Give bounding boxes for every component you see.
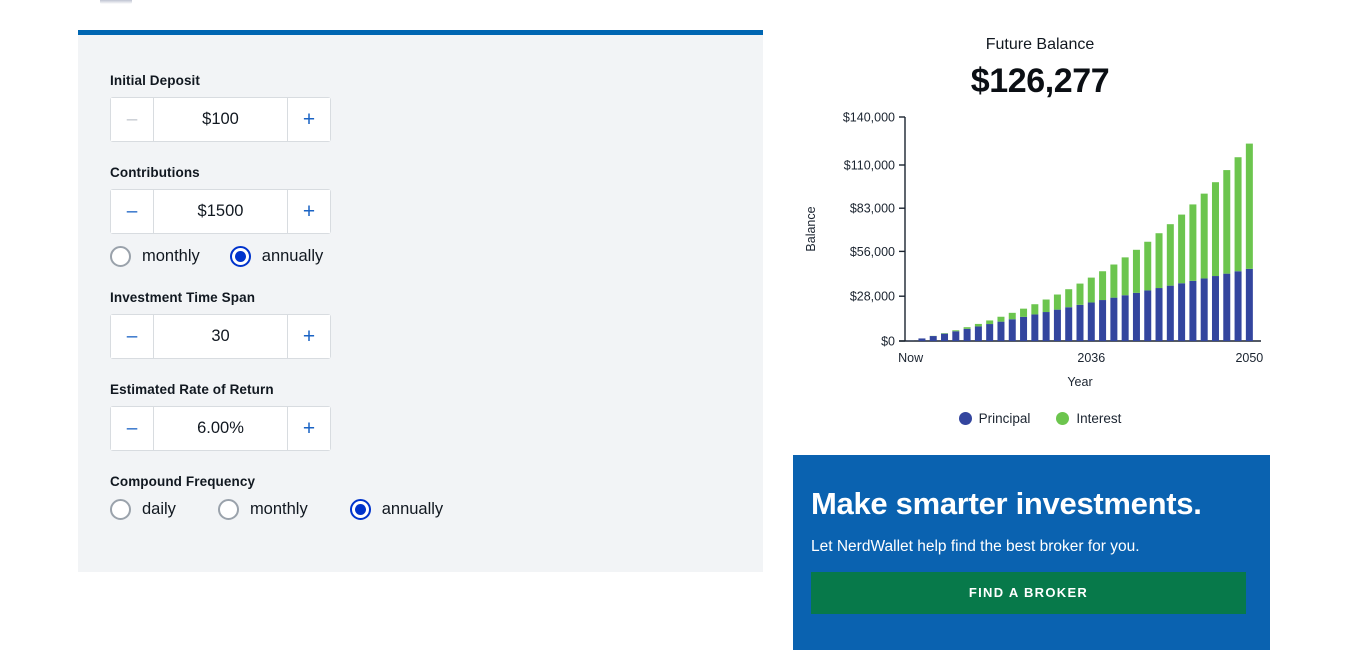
legend-label-interest: Interest: [1076, 411, 1121, 426]
plus-icon-investment-time-span[interactable]: +: [287, 315, 330, 358]
input-contributions[interactable]: $1500: [154, 190, 287, 233]
svg-text:$83,000: $83,000: [850, 202, 895, 216]
future-balance-amount: $126,277: [793, 62, 1287, 101]
results-column: Future Balance $126,277 $140,000$110,000…: [793, 0, 1283, 426]
radio-compound-monthly[interactable]: monthly: [218, 499, 308, 520]
plus-icon-contributions[interactable]: +: [287, 190, 330, 233]
legend-dot-principal: [959, 412, 972, 425]
input-estimated-rate-of-return[interactable]: 6.00%: [154, 407, 287, 450]
cta-banner: Make smarter investments. Let NerdWallet…: [793, 455, 1270, 650]
radio-label-compound-annually: annually: [382, 500, 443, 519]
radio-contribution-annually[interactable]: annually: [230, 246, 323, 267]
stepper-contributions: – $1500 +: [110, 189, 331, 234]
field-label-investment-time-span: Investment Time Span: [110, 290, 763, 305]
radio-compound-daily[interactable]: daily: [110, 499, 176, 520]
svg-text:$110,000: $110,000: [844, 159, 895, 173]
stepper-estimated-rate-of-return: – 6.00% +: [110, 406, 331, 451]
field-label-compound-frequency: Compound Frequency: [110, 474, 763, 489]
chart-legend: Principal Interest: [793, 411, 1287, 426]
stepper-investment-time-span: – 30 +: [110, 314, 331, 359]
radio-icon-monthly: [110, 246, 131, 267]
radio-icon-daily: [110, 499, 131, 520]
svg-text:$56,000: $56,000: [850, 245, 895, 259]
input-investment-time-span[interactable]: 30: [154, 315, 287, 358]
balance-chart: $140,000$110,000$83,000$56,000$28,000$0B…: [793, 109, 1283, 409]
stepper-initial-deposit: – $100 +: [110, 97, 331, 142]
svg-text:2036: 2036: [1077, 351, 1105, 365]
radio-label-compound-daily: daily: [142, 500, 176, 519]
svg-text:Year: Year: [1067, 375, 1092, 389]
calculator-fields: Initial Deposit – $100 + Contributions –…: [78, 35, 763, 520]
contribution-frequency-group: monthly annually: [110, 246, 763, 267]
page-root: Initial Deposit – $100 + Contributions –…: [0, 0, 1350, 650]
legend-label-principal: Principal: [979, 411, 1031, 426]
svg-text:Balance: Balance: [804, 206, 818, 251]
radio-label-compound-monthly: monthly: [250, 500, 308, 519]
field-label-estimated-rate-of-return: Estimated Rate of Return: [110, 382, 763, 397]
field-estimated-rate-of-return: Estimated Rate of Return – 6.00% +: [110, 382, 763, 451]
svg-text:Now: Now: [898, 351, 924, 365]
radio-icon-compound-monthly: [218, 499, 239, 520]
calculator-panel: Initial Deposit – $100 + Contributions –…: [78, 30, 763, 572]
plus-icon-initial-deposit[interactable]: +: [287, 98, 330, 141]
radio-contribution-monthly[interactable]: monthly: [110, 246, 200, 267]
minus-icon-contributions[interactable]: –: [111, 190, 154, 233]
radio-icon-annually: [230, 246, 251, 267]
radio-label-contribution-monthly: monthly: [142, 247, 200, 266]
field-label-initial-deposit: Initial Deposit: [110, 73, 763, 88]
legend-dot-interest: [1056, 412, 1069, 425]
cta-subtext: Let NerdWallet help find the best broker…: [811, 538, 1246, 556]
radio-label-contribution-annually: annually: [262, 247, 323, 266]
cut-off-element-top: [100, 0, 132, 4]
field-contributions: Contributions – $1500 + monthly annually: [110, 165, 763, 267]
find-a-broker-button[interactable]: FIND A BROKER: [811, 572, 1246, 614]
cta-headline: Make smarter investments.: [811, 483, 1246, 525]
radio-compound-annually[interactable]: annually: [350, 499, 443, 520]
field-initial-deposit: Initial Deposit – $100 +: [110, 73, 763, 142]
balance-chart-svg: $140,000$110,000$83,000$56,000$28,000$0B…: [793, 109, 1283, 409]
svg-text:$140,000: $140,000: [843, 111, 895, 125]
field-investment-time-span: Investment Time Span – 30 +: [110, 290, 763, 359]
chart-title: Future Balance: [793, 36, 1287, 54]
svg-text:$28,000: $28,000: [850, 290, 895, 304]
minus-icon-initial-deposit[interactable]: –: [111, 98, 154, 141]
input-initial-deposit[interactable]: $100: [154, 98, 287, 141]
legend-item-principal: Principal: [959, 411, 1031, 426]
svg-text:$0: $0: [881, 335, 895, 349]
minus-icon-investment-time-span[interactable]: –: [111, 315, 154, 358]
legend-item-interest: Interest: [1056, 411, 1121, 426]
compound-frequency-group: daily monthly annually: [110, 499, 763, 520]
field-label-contributions: Contributions: [110, 165, 763, 180]
radio-icon-compound-annually: [350, 499, 371, 520]
minus-icon-estimated-rate-of-return[interactable]: –: [111, 407, 154, 450]
plus-icon-estimated-rate-of-return[interactable]: +: [287, 407, 330, 450]
svg-text:2050: 2050: [1235, 351, 1263, 365]
field-compound-frequency: Compound Frequency daily monthly annuall…: [110, 474, 763, 520]
